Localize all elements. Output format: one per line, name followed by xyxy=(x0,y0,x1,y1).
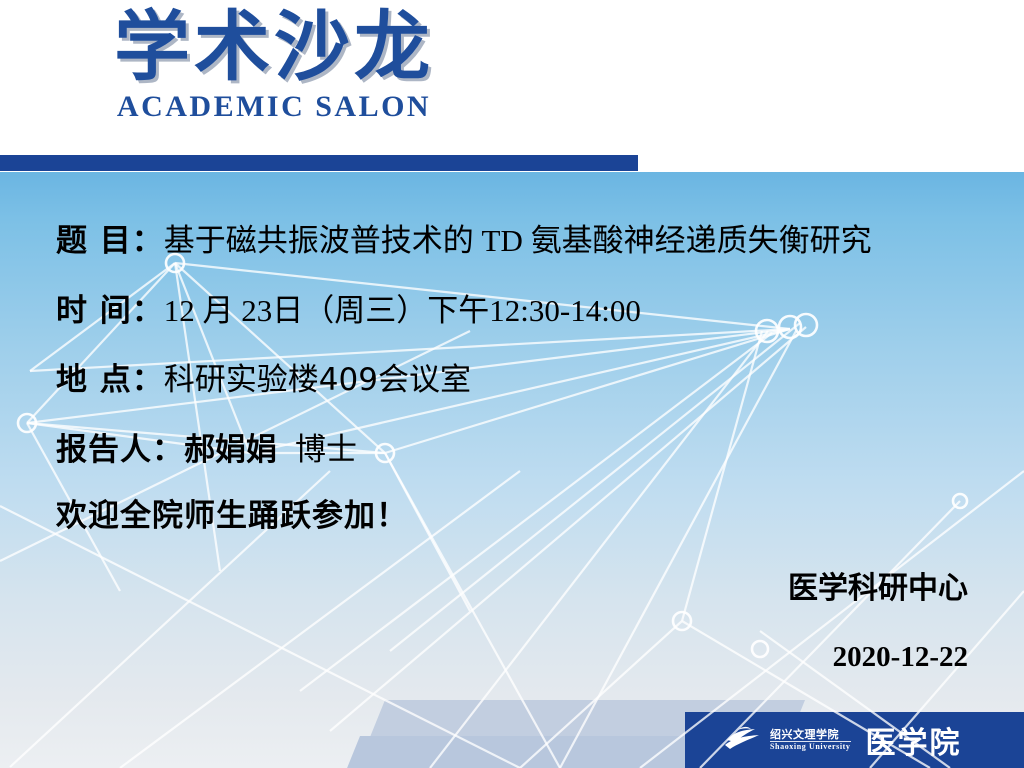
slide-root: 学术沙龙 ACADEMIC SALON xyxy=(0,0,1024,768)
academic-salon-logo: 学术沙龙 ACADEMIC SALON xyxy=(84,6,464,124)
row-topic-value: 基于磁共振波普技术的 TD 氨基酸神经递质失衡研究 xyxy=(164,223,872,258)
welcome-message: 欢迎全院师生踊跃参加！ xyxy=(56,501,408,532)
logo-title-cn: 学术沙龙 xyxy=(84,6,464,88)
row-topic: 题 目：基于磁共振波普技术的 TD 氨基酸神经递质失衡研究 xyxy=(56,225,872,257)
row-place-value: 科研实验楼409会议室 xyxy=(164,362,471,398)
university-brand: 绍兴文理学院 Shaoxing University 医学院 xyxy=(685,712,1024,768)
row-time-label: 时 间： xyxy=(56,293,164,329)
row-place-label: 地 点： xyxy=(56,362,164,398)
university-names: 绍兴文理学院 Shaoxing University xyxy=(770,729,851,752)
row-topic-label: 题 目： xyxy=(56,223,164,259)
row-speaker: 报告人：郝娟娟博士 xyxy=(56,434,357,466)
header-rule xyxy=(0,155,638,171)
college-name: 医学院 xyxy=(866,718,962,762)
signature-organization: 医学科研中心 xyxy=(788,574,968,604)
signature-date: 2020-12-22 xyxy=(833,643,968,672)
shaoxing-university-emblem-icon xyxy=(721,723,761,758)
row-speaker-label: 报告人： xyxy=(56,432,184,468)
announcement-body: 题 目：基于磁共振波普技术的 TD 氨基酸神经递质失衡研究 时 间：12 月 2… xyxy=(0,171,1024,768)
university-name-en: Shaoxing University xyxy=(770,741,851,751)
row-place: 地 点：科研实验楼409会议室 xyxy=(56,365,471,396)
row-speaker-name: 郝娟娟 xyxy=(184,432,277,468)
logo-title-en: ACADEMIC SALON xyxy=(84,90,464,124)
row-speaker-degree: 博士 xyxy=(277,432,357,467)
university-name-cn: 绍兴文理学院 xyxy=(770,729,851,741)
row-time-value: 12 月 23日（周三）下午12:30-14:00 xyxy=(164,293,641,328)
masthead: 学术沙龙 ACADEMIC SALON xyxy=(0,0,1024,172)
row-time: 时 间：12 月 23日（周三）下午12:30-14:00 xyxy=(56,295,641,327)
